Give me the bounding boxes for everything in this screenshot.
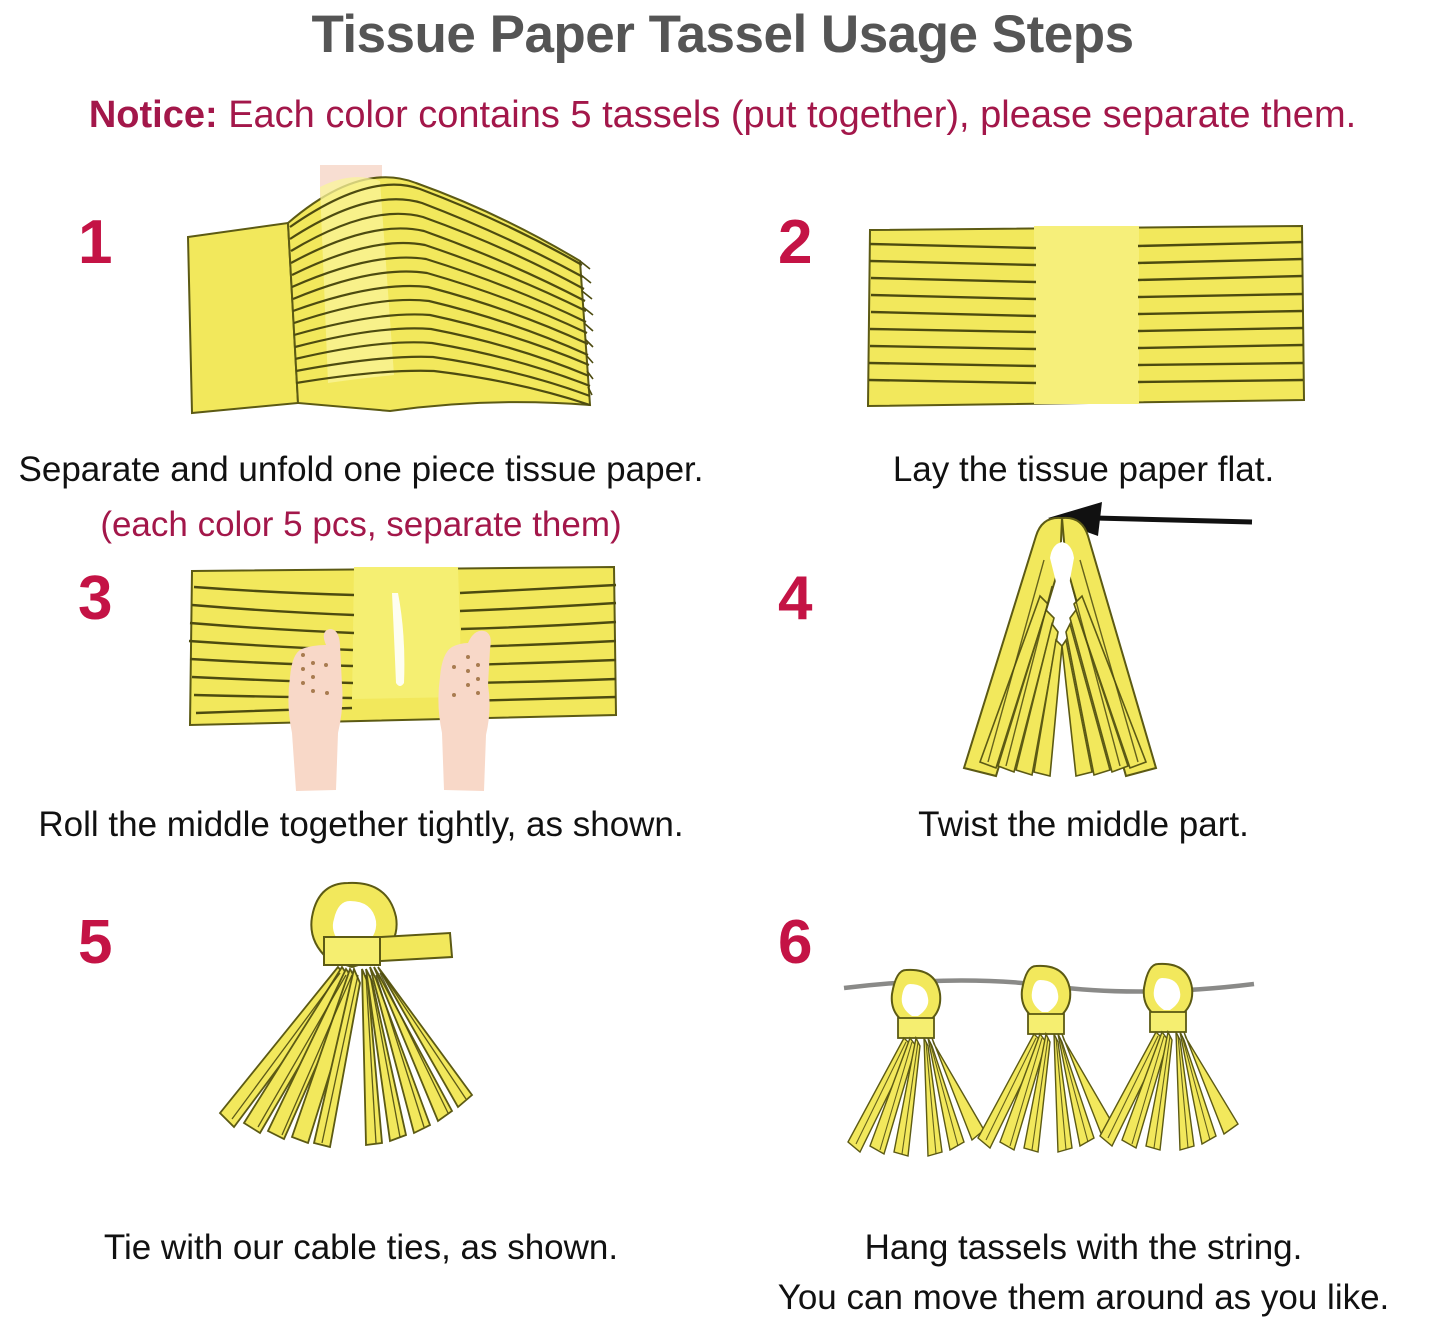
- step-number-5: 5: [78, 912, 112, 974]
- infographic-page: Tissue Paper Tassel Usage Steps Notice: …: [0, 0, 1445, 1320]
- step-6-caption: Hang tassels with the string.: [722, 1228, 1445, 1268]
- step-number-3: 3: [78, 568, 112, 630]
- flat-fringed-tissue-illustration: [866, 222, 1306, 412]
- notice-label: Notice:: [89, 94, 218, 136]
- step-number-1: 1: [78, 212, 112, 274]
- step-1-subcaption: (each color 5 pcs, separate them): [0, 505, 722, 545]
- notice-text: Each color contains 5 tassels (put toget…: [218, 94, 1357, 136]
- three-tassels-hanging-on-string-illustration: [840, 930, 1260, 1200]
- step-5-caption: Tie with our cable ties, as shown.: [0, 1228, 722, 1268]
- folded-twisted-tassel-with-arrow-illustration: [940, 500, 1280, 800]
- step-1-caption: Separate and unfold one piece tissue pap…: [0, 450, 722, 490]
- fringed-tissue-held-in-hand-illustration: [170, 165, 600, 430]
- tassel-1: [848, 970, 984, 1156]
- tassel-2: [978, 966, 1114, 1152]
- step-3-caption: Roll the middle together tightly, as sho…: [0, 805, 722, 845]
- page-title: Tissue Paper Tassel Usage Steps: [0, 4, 1445, 65]
- step-number-6: 6: [778, 912, 812, 974]
- step-number-2: 2: [778, 212, 812, 274]
- step-2-caption: Lay the tissue paper flat.: [722, 450, 1445, 490]
- tassel-tied-with-cable-tie-illustration: [200, 875, 540, 1185]
- step-number-4: 4: [778, 568, 812, 630]
- two-hands-rolling-middle-illustration: [186, 565, 618, 800]
- step-4-caption: Twist the middle part.: [722, 805, 1445, 845]
- step-6-subcaption: You can move them around as you like.: [722, 1278, 1445, 1318]
- notice-line: Notice: Each color contains 5 tassels (p…: [0, 94, 1445, 137]
